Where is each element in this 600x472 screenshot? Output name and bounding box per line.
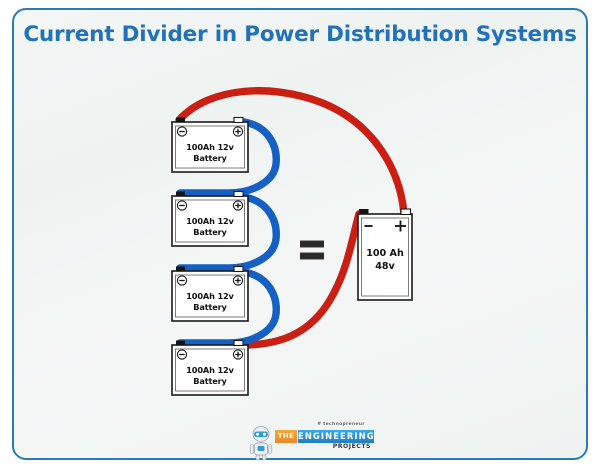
battery-right-label: 100 Ah 48v: [358, 248, 412, 274]
logo-word-the: THE: [275, 430, 297, 443]
battery-left-4-label: 100Ah 12v Battery: [172, 365, 248, 387]
logo-word-projects: PROJECTS: [298, 443, 374, 450]
battery-left-3-label: 100Ah 12v Battery: [172, 291, 248, 313]
screenshot-canvas: Current Divider in Power Distribution Sy…: [0, 0, 600, 472]
equals-sign: [300, 238, 326, 264]
robot-mascot-icon: [248, 425, 274, 461]
circuit-diagram: [0, 0, 600, 472]
battery-left-2-label: 100Ah 12v Battery: [172, 216, 248, 238]
logo-tagline: # technopreneur: [308, 422, 374, 427]
battery-left-1-label: 100Ah 12v Battery: [172, 142, 248, 164]
brand-logo: # technopreneur THE ENGINEERING PROJECTS: [248, 422, 374, 460]
logo-word-engineering: ENGINEERING: [298, 430, 374, 443]
